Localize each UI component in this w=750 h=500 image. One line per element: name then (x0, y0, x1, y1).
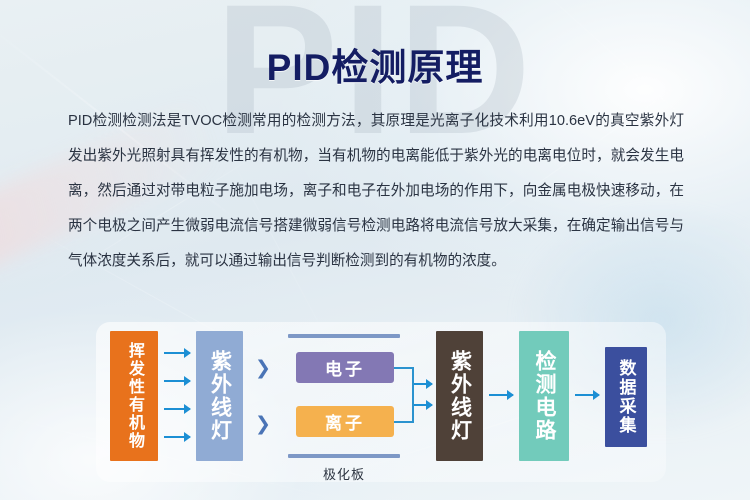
diagram-node-voc-label: 挥发性有机物 (122, 342, 146, 450)
arrow-voc-to-uvlamp-3 (164, 408, 190, 410)
arrow-bracket-to-uvlamp2-top (414, 383, 432, 385)
bracket-electron-lead (394, 367, 414, 369)
diagram-node-uv-lamp-2: 紫外线灯 (436, 331, 483, 461)
arrow-bracket-to-uvlamp2-bottom (414, 404, 432, 406)
pid-flow-diagram: 挥发性有机物 紫外线灯 ❯ ❯ 极化板 电子 离子 (0, 322, 750, 500)
arrow-voc-to-uvlamp-4 (164, 436, 190, 438)
diagram-node-uv-lamp-2-label: 紫外线灯 (445, 350, 475, 442)
bracket-ion-lead (394, 421, 414, 423)
polarization-plate-label: 极化板 (288, 464, 400, 483)
diagram-node-uv-lamp-1: 紫外线灯 (196, 331, 243, 461)
diagram-node-detect-circuit: 检测电路 (519, 331, 569, 461)
polarization-plate-top (288, 334, 400, 338)
arrow-voc-to-uvlamp-1 (164, 352, 190, 354)
diagram-node-data-acquire-label: 数据采集 (614, 359, 639, 435)
diagram-node-ion-label: 离子 (325, 409, 365, 434)
diagram-node-data-acquire: 数据采集 (605, 347, 647, 447)
diagram-node-voc: 挥发性有机物 (110, 331, 158, 461)
arrow-voc-to-uvlamp-2 (164, 380, 190, 382)
diagram-node-electron-label: 电子 (325, 355, 365, 380)
body-paragraph: PID检测检测法是TVOC检测常用的检测方法，其原理是光离子化技术利用10.6e… (68, 104, 684, 279)
page-title: PID检测原理 (0, 37, 750, 91)
chevron-to-electron-icon: ❯ (255, 359, 271, 378)
arrow-uvlamp2-to-circuit (489, 394, 513, 396)
arrow-circuit-to-acquire (575, 394, 599, 396)
page-root: PID PID检测原理 PID检测检测法是TVOC检测常用的检测方法，其原理是光… (0, 0, 750, 500)
diagram-node-detect-circuit-label: 检测电路 (529, 350, 559, 442)
chevron-to-ion-icon: ❯ (255, 415, 271, 434)
diagram-node-uv-lamp-1-label: 紫外线灯 (205, 350, 235, 442)
bracket-vertical (412, 367, 414, 423)
diagram-node-electron: 电子 (296, 352, 394, 383)
polarization-plate-bottom (288, 454, 400, 458)
diagram-node-ion: 离子 (296, 406, 394, 437)
